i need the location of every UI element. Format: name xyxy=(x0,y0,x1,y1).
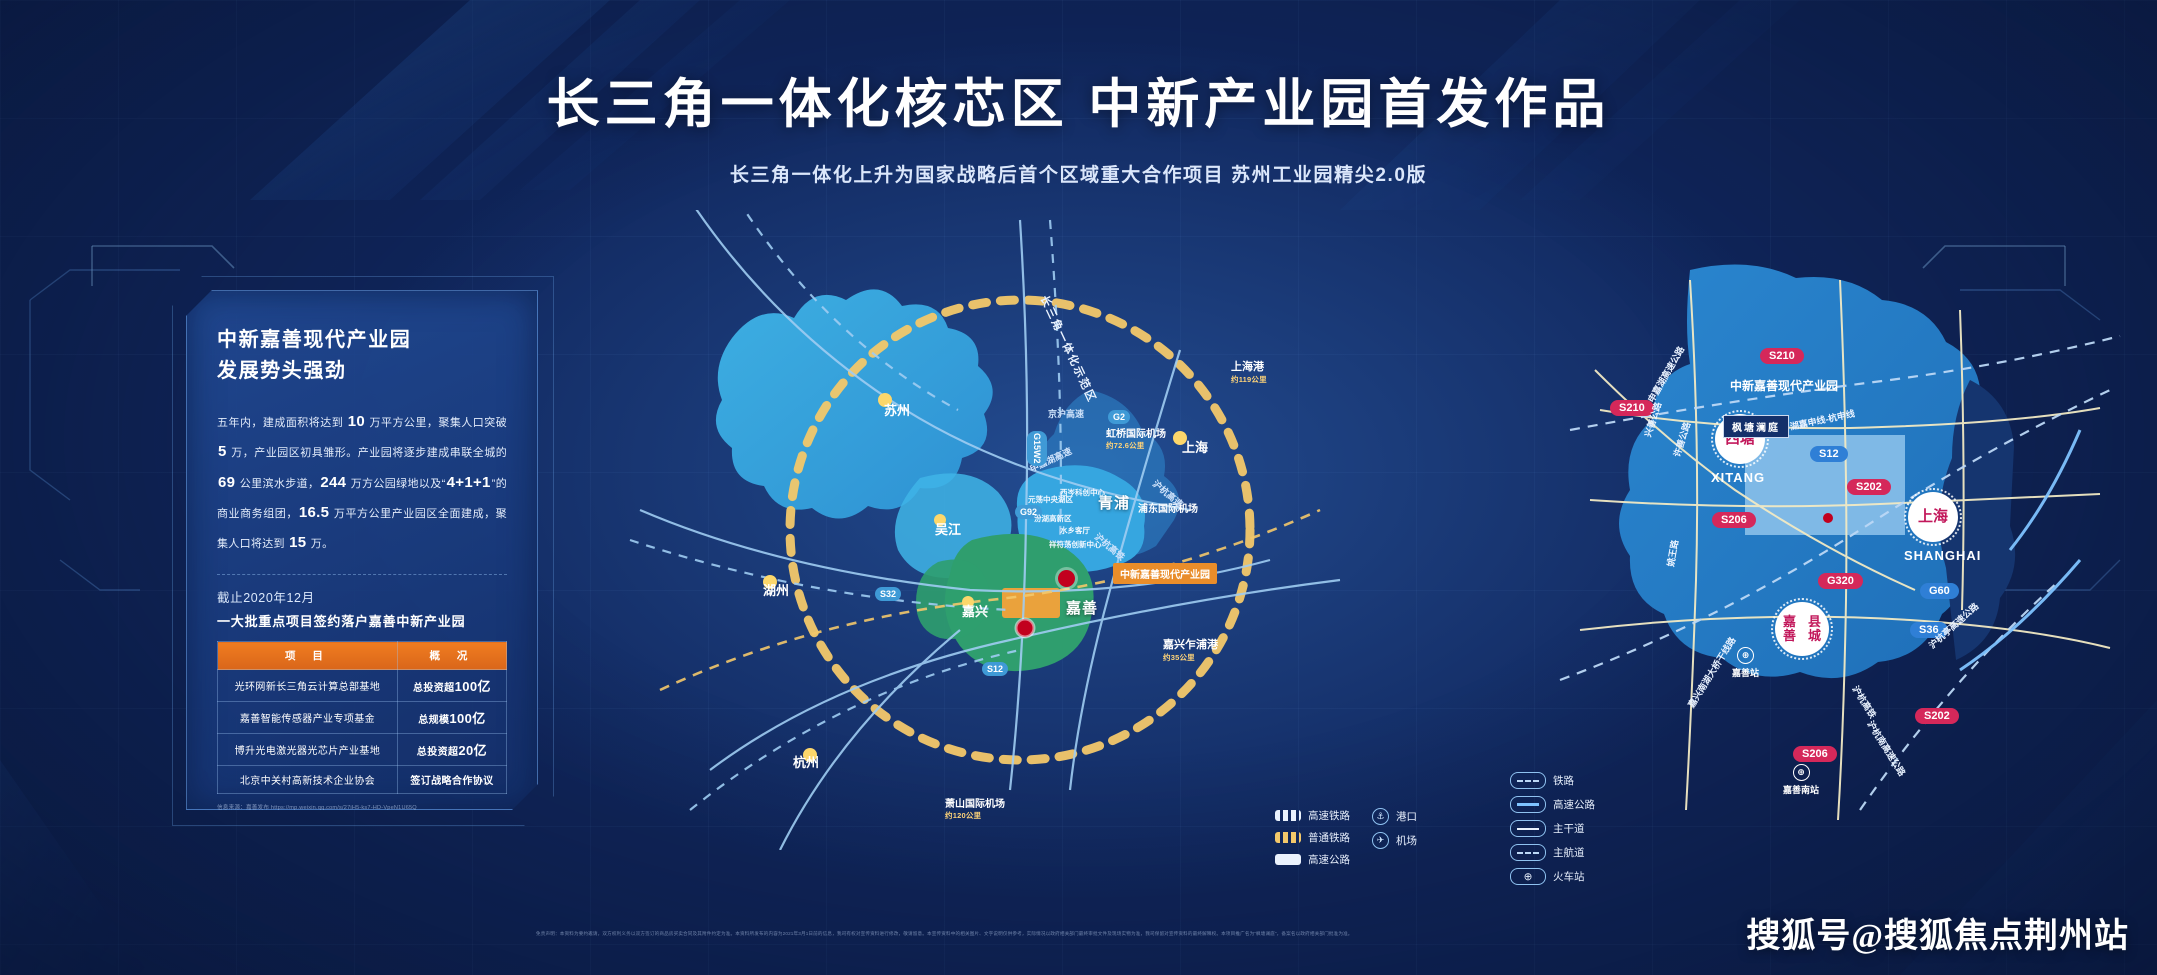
cell-project: 博升光电激光器光芯片产业基地 xyxy=(218,734,398,766)
cell-project: 北京中关村高新技术企业协会 xyxy=(218,766,398,794)
solid-line-chip xyxy=(1275,854,1301,865)
city-label-苏州: 苏州 xyxy=(884,400,910,419)
city-label-嘉兴: 嘉兴 xyxy=(962,601,988,620)
airplane-icon: ✈ xyxy=(1372,832,1389,849)
info-panel: 中新嘉善现代产业园 发展势头强劲 五年内，建成面积将达到 10 万平方公里，聚集… xyxy=(186,290,538,810)
place-circle-嘉善 县城: 嘉善县城 xyxy=(1777,604,1827,654)
legend-label: 普通铁路 xyxy=(1308,830,1350,845)
shield-S202-1915: S202 xyxy=(1915,708,1959,724)
right-jiashan-map xyxy=(1540,250,2140,830)
airport-label-萧山国际机场: 萧山国际机场约120公里 xyxy=(945,795,1005,821)
port-label-上海港: 上海港约119公里 xyxy=(1231,358,1267,385)
panel-divider xyxy=(217,574,507,575)
page-subtitle: 长三角一体化上升为国家战略后首个区域重大合作项目 苏州工业园精尖2.0版 xyxy=(0,160,2157,187)
city-label-杭州: 杭州 xyxy=(793,752,819,771)
watermark: 搜狐号@搜狐焦点荆州站 xyxy=(1746,908,2129,957)
place-嘉善: 嘉善 xyxy=(1066,597,1098,618)
right-map-legend: 铁路 高速公路 主干道 主航道 ⊕火车站 xyxy=(1510,772,1595,892)
poster-canvas: 长三角一体化核芯区 中新产业园首发作品 长三角一体化上升为国家战略后首个区域重大… xyxy=(0,0,2157,975)
shield-S12-1810: S12 xyxy=(1810,446,1848,462)
panel-heading-line1: 中新嘉善现代产业园 xyxy=(217,325,507,356)
table-row: 光环网新长三角云计算总部基地总投资超100亿 xyxy=(218,670,507,702)
projects-table: 项 目 概 况 光环网新长三角云计算总部基地总投资超100亿嘉善智能传感器产业专… xyxy=(217,641,507,794)
panel-body-run: 万，产业园区初具雏形。产业园将逐步建成串联全城的 xyxy=(228,447,507,459)
core-marker-left xyxy=(1058,570,1075,587)
place-circle-SHANGHAI: 上海 xyxy=(1910,494,1956,540)
park-tag-left: 中新嘉善现代产业园 xyxy=(1113,563,1217,584)
shield-G60-1920: G60 xyxy=(1920,583,1959,599)
legend-label: 机场 xyxy=(1396,833,1417,848)
panel-body-highlight: 10 xyxy=(347,413,366,430)
shield-S206-1793: S206 xyxy=(1793,746,1837,762)
legend-label: 铁路 xyxy=(1553,773,1574,788)
legend-label: 火车站 xyxy=(1553,869,1585,884)
table-row: 嘉善智能传感器产业专项基金总规模100亿 xyxy=(218,702,507,734)
shield-S206-1712: S206 xyxy=(1712,512,1756,528)
table-header-row: 项 目 概 况 xyxy=(218,642,507,670)
shield-G2: G2 xyxy=(1108,410,1130,424)
train-station-icon: ⊕ xyxy=(1737,647,1754,664)
cell-overview: 签订战略合作协议 xyxy=(397,766,506,794)
panel-body-run: 万方公园绿地以及“ xyxy=(347,478,445,490)
panel-body-text: 五年内，建成面积将达到 10 万平方公里，聚集人口突破 5 万，产业园区初具雏形… xyxy=(217,407,507,558)
panel-body-highlight: 15 xyxy=(288,534,307,551)
panel-body-run: 万平方公里，聚集人口突破 xyxy=(366,417,507,429)
legend-label: 主航道 xyxy=(1553,845,1585,860)
main-road-icon xyxy=(1510,820,1546,837)
page-title: 长三角一体化核芯区 中新产业园首发作品 xyxy=(0,62,2157,138)
panel-note-date: 截止2020年12月 xyxy=(217,587,507,606)
panel-body-highlight: 4+1+1 xyxy=(446,474,492,491)
estate-badge: 枫塘澜庭 xyxy=(1723,415,1789,438)
legend-label: 高速公路 xyxy=(1308,852,1350,867)
panel-source-note: 信息来源：嘉善发布 https://mp.weixin.qq.com/s/27i… xyxy=(217,803,507,811)
dash-line-chip xyxy=(1275,810,1301,821)
shield-S210-1760: S210 xyxy=(1760,348,1804,364)
station-嘉善南站: ⊕嘉善南站 xyxy=(1783,764,1819,796)
panel-body-highlight: 5 xyxy=(217,443,228,460)
cell-overview: 总投资超20亿 xyxy=(397,734,506,766)
shield-S32: S32 xyxy=(875,587,901,601)
cell-overview: 总投资超100亿 xyxy=(397,670,506,702)
train-station-icon: ⊕ xyxy=(1510,868,1546,885)
panel-body-run: 公里滨水步道， xyxy=(236,478,319,490)
train-station-icon: ⊕ xyxy=(1793,764,1810,781)
table-body: 光环网新长三角云计算总部基地总投资超100亿嘉善智能传感器产业专项基金总规模10… xyxy=(218,670,507,794)
disclaimer-text: 免责声明：本资料为要约邀请，双方权利义务以双方签订的商品房买卖合同及其附件约定为… xyxy=(536,930,1866,939)
place-en-SHANGHAI: SHANGHAI xyxy=(1904,548,1981,563)
left-map-legend: 高速铁路 普通铁路 高速公路 ⚓港口 ✈机场 xyxy=(1275,808,1417,874)
waterway-icon xyxy=(1510,844,1546,861)
port-label-嘉兴乍浦港: 嘉兴乍浦港约35公里 xyxy=(1163,636,1218,663)
shield-G320-1818: G320 xyxy=(1818,573,1863,589)
panel-body-highlight: 69 xyxy=(217,474,236,491)
shield-S12: S12 xyxy=(982,662,1008,676)
legend-label: 港口 xyxy=(1396,809,1417,824)
place-汾湖高新区: 汾湖高新区 xyxy=(1034,513,1072,524)
place-en-XITANG: XITANG xyxy=(1711,470,1765,485)
city-label-吴江: 吴江 xyxy=(935,519,961,538)
airport-label-虹桥国际机场: 虹桥国际机场约72.6公里 xyxy=(1106,425,1166,451)
place-祥符荡创新中心: 祥符荡创新中心 xyxy=(1049,539,1102,550)
panel-note-title: 一大批重点项目签约落户嘉善中新产业园 xyxy=(217,611,507,630)
cell-overview: 总规模100亿 xyxy=(397,702,506,734)
place-青浦: 青浦 xyxy=(1098,492,1130,513)
table-row: 北京中关村高新技术企业协会签订战略合作协议 xyxy=(218,766,507,794)
cell-project: 嘉善智能传感器产业专项基金 xyxy=(218,702,398,734)
cell-project: 光环网新长三角云计算总部基地 xyxy=(218,670,398,702)
port-icon: ⚓ xyxy=(1372,808,1389,825)
panel-body-run: 五年内，建成面积将达到 xyxy=(217,417,347,429)
panel-body-highlight: 244 xyxy=(319,474,347,491)
panel-body-highlight: 16.5 xyxy=(298,504,330,521)
road-label-京沪高速: 京沪高速 xyxy=(1048,407,1084,420)
table-row: 博升光电激光器光芯片产业基地总投资超20亿 xyxy=(218,734,507,766)
shield-G15W2: G15W2 xyxy=(1027,431,1047,466)
place-水乡客厅: 水乡客厅 xyxy=(1060,525,1090,536)
panel-body-run: 万。 xyxy=(307,538,333,550)
expressway-icon xyxy=(1510,796,1546,813)
legend-label: 高速铁路 xyxy=(1308,808,1350,823)
shield-S202-1847: S202 xyxy=(1847,479,1891,495)
th-overview: 概 况 xyxy=(397,642,506,670)
legend-label: 高速公路 xyxy=(1553,797,1595,812)
th-project: 项 目 xyxy=(218,642,398,670)
park-label-right: 中新嘉善现代产业园 xyxy=(1730,377,1838,394)
city-label-上海: 上海 xyxy=(1182,437,1208,456)
dashed-rail-icon xyxy=(1510,772,1546,789)
city-label-湖州: 湖州 xyxy=(763,580,789,599)
left-regional-map xyxy=(620,210,1380,850)
legend-label: 主干道 xyxy=(1553,821,1585,836)
panel-heading-line2: 发展势头强劲 xyxy=(217,356,507,387)
dot-line-chip xyxy=(1275,832,1301,843)
station-嘉善站: ⊕嘉善站 xyxy=(1732,647,1759,679)
